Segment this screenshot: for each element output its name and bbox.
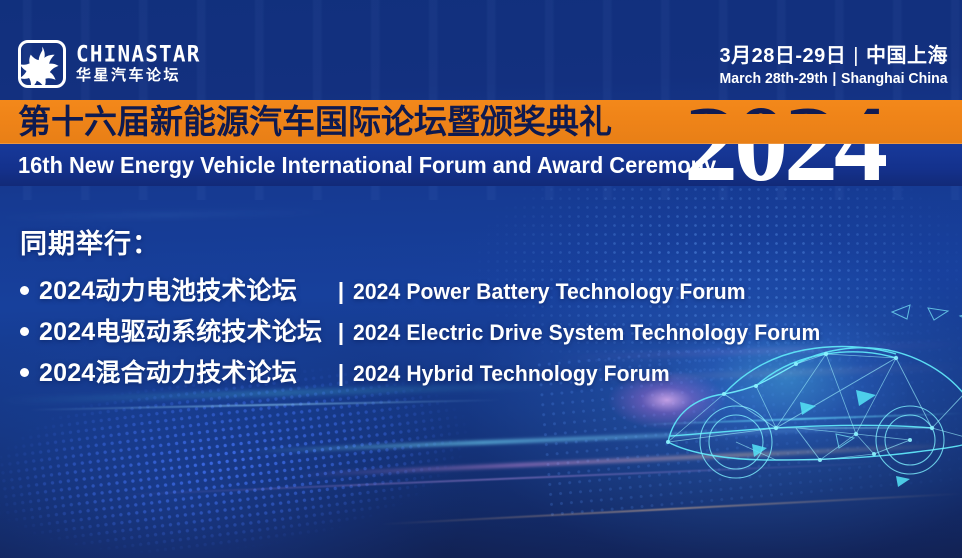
light-streak [30, 399, 500, 411]
subforum-name-cn: 2024电驱动系统技术论坛 [39, 312, 329, 348]
logo-text: CHINASTAR 华星汽车论坛 [76, 43, 201, 84]
subforum-separator: | [329, 319, 353, 346]
date-location-cn: 3月28日-29日|中国上海 [705, 44, 948, 69]
light-streak [300, 443, 962, 477]
date-separator-en: | [833, 70, 837, 87]
logo-name-cn: 华星汽车论坛 [76, 67, 201, 84]
logo[interactable]: CHINASTAR 华星汽车论坛 [18, 40, 201, 88]
date-separator: | [853, 45, 859, 67]
date-en-text: March 28th-29th [720, 70, 828, 87]
bullet-icon [20, 368, 29, 377]
event-banner: CHINASTAR 华星汽车论坛 3月28日-29日|中国上海 March 28… [0, 0, 962, 558]
list-item: 2024混合动力技术论坛 | 2024 Hybrid Technology Fo… [20, 353, 840, 389]
subforum-list: 同期举行： 2024动力电池技术论坛 | 2024 Power Battery … [20, 222, 840, 394]
light-streak [250, 423, 950, 454]
light-streak [0, 211, 330, 219]
subforum-name-en: 2024 Power Battery Technology Forum [353, 279, 746, 305]
date-location-en: March 28th-29th|Shanghai China [720, 70, 948, 89]
subforum-separator: | [329, 278, 353, 305]
logo-name-en: CHINASTAR [76, 43, 201, 66]
event-date-location: 3月28日-29日|中国上海 March 28th-29th|Shanghai … [705, 44, 948, 89]
subforum-name-cn: 2024混合动力技术论坛 [39, 353, 329, 389]
location-en-text: Shanghai China [841, 70, 948, 87]
page-title: 第十六届新能源汽车国际论坛暨颁奖典礼 [18, 100, 612, 144]
light-streak [120, 462, 879, 496]
bullet-icon [20, 286, 29, 295]
star-flower-emblem-icon [18, 40, 66, 88]
light-streak [380, 493, 961, 525]
subforum-separator: | [329, 360, 353, 387]
location-cn-text: 中国上海 [866, 45, 948, 67]
light-streak [640, 412, 962, 425]
subforum-name-en: 2024 Hybrid Technology Forum [353, 361, 670, 387]
list-item: 2024动力电池技术论坛 | 2024 Power Battery Techno… [20, 271, 840, 307]
subforum-name-cn: 2024动力电池技术论坛 [39, 271, 329, 307]
date-cn-text: 3月28日-29日 [720, 45, 847, 67]
subforum-heading: 同期举行： [20, 222, 840, 261]
page-subtitle: 16th New Energy Vehicle International Fo… [18, 144, 716, 186]
list-item: 2024电驱动系统技术论坛 | 2024 Electric Drive Syst… [20, 312, 840, 348]
bullet-icon [20, 327, 29, 336]
subforum-name-en: 2024 Electric Drive System Technology Fo… [353, 320, 820, 346]
